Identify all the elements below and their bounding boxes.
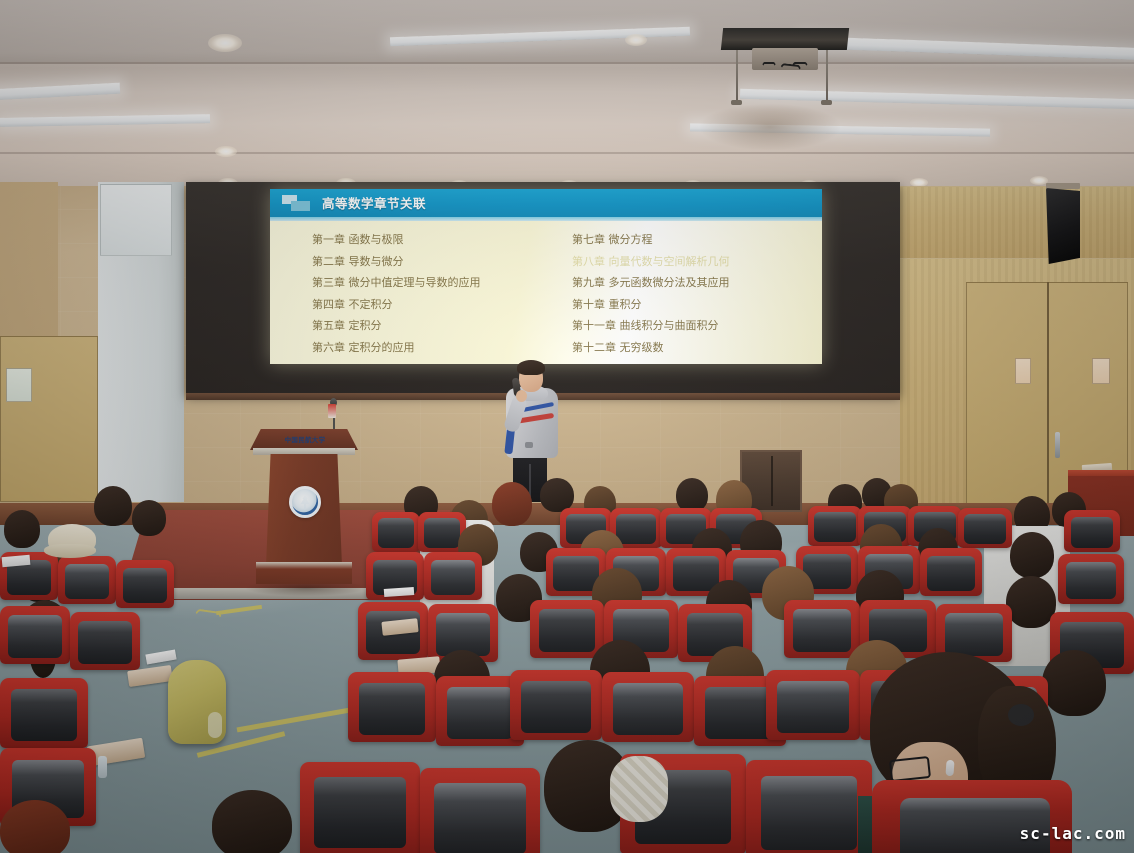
water-bottle xyxy=(98,756,107,778)
earbud xyxy=(945,760,954,777)
door-handle[interactable] xyxy=(1055,432,1060,458)
audience-head xyxy=(0,800,70,853)
podium-institution-text: 中国民航大学 xyxy=(272,434,338,444)
knitted-bag xyxy=(610,756,668,822)
seat xyxy=(920,548,982,596)
university-emblem xyxy=(289,486,321,518)
slide-title: 高等数学章节关联 xyxy=(322,193,426,212)
exit-door-left[interactable] xyxy=(0,336,98,502)
seat xyxy=(58,556,116,604)
door-window xyxy=(1015,358,1031,384)
audience-head xyxy=(132,500,166,536)
slide-item: 第二章 导数与微分 xyxy=(312,251,481,273)
seat xyxy=(420,768,540,853)
audience-head xyxy=(676,478,708,512)
slide-item: 第三章 微分中值定理与导数的应用 xyxy=(312,272,481,294)
seat xyxy=(116,560,174,608)
yellow-backpack xyxy=(168,660,226,744)
podium-base xyxy=(256,562,352,584)
seat xyxy=(0,606,70,664)
seat xyxy=(602,672,694,742)
slide-item-highlighted: 第八章 向量代数与空间解析几何 xyxy=(572,251,730,273)
seat xyxy=(0,678,88,748)
presentation-slide: 高等数学章节关联 第一章 函数与极限 第二章 导数与微分 第三章 微分中值定理与… xyxy=(270,189,822,364)
podium-mini-flag xyxy=(328,404,336,418)
seat xyxy=(1058,554,1124,604)
slide-item: 第四章 不定积分 xyxy=(312,294,481,316)
seat xyxy=(424,552,482,600)
slide-item: 第七章 微分方程 xyxy=(572,229,730,251)
audience-cap-brim xyxy=(44,544,96,558)
projector-mount-plate xyxy=(721,28,849,50)
ceiling-downlight xyxy=(625,34,647,46)
lecture-hall-photo: 高等数学章节关联 第一章 函数与极限 第二章 导数与微分 第三章 微分中值定理与… xyxy=(0,0,1134,853)
seat xyxy=(746,760,872,853)
ceiling-panel-light xyxy=(0,114,210,127)
audience-head xyxy=(212,790,292,853)
seat xyxy=(766,670,860,740)
slide-item: 第十二章 无穷级数 xyxy=(572,337,730,359)
left-wall-plate xyxy=(100,184,172,256)
slide-item: 第五章 定积分 xyxy=(312,315,481,337)
presenter-hand xyxy=(516,390,527,402)
slide-item: 第九章 多元函数微分法及其应用 xyxy=(572,272,730,294)
slide-body: 第一章 函数与极限 第二章 导数与微分 第三章 微分中值定理与导数的应用 第四章… xyxy=(270,219,822,364)
door-window xyxy=(1092,358,1110,384)
audience-head xyxy=(1006,576,1056,628)
seat xyxy=(784,600,860,658)
seat xyxy=(958,508,1012,548)
seat xyxy=(70,612,140,670)
audience-head xyxy=(94,486,132,526)
podium-lip xyxy=(253,448,355,455)
door-window xyxy=(6,368,32,402)
slide-item: 第十章 重积分 xyxy=(572,294,730,316)
slide-logo-icon xyxy=(282,195,312,212)
slide-item: 第六章 定积分的应用 xyxy=(312,337,481,359)
seat xyxy=(372,512,420,552)
slide-left-column: 第一章 函数与极限 第二章 导数与微分 第三章 微分中值定理与导数的应用 第四章… xyxy=(312,229,481,358)
hair-scrunchie xyxy=(1008,704,1034,726)
ceiling-downlight xyxy=(208,34,242,52)
exit-door-right-left-leaf[interactable] xyxy=(966,282,1048,504)
seat xyxy=(808,506,862,546)
audience-head xyxy=(540,478,574,512)
wall-speaker xyxy=(1046,188,1080,264)
seat xyxy=(1064,510,1120,552)
slide-item: 第一章 函数与极限 xyxy=(312,229,481,251)
watermark: sc-lac.com xyxy=(1020,824,1126,843)
seat xyxy=(530,600,604,658)
slide-right-column: 第七章 微分方程 第八章 向量代数与空间解析几何 第九章 多元函数微分法及其应用… xyxy=(572,229,730,358)
ceiling xyxy=(0,0,1134,200)
slide-item: 第十一章 曲线积分与曲面积分 xyxy=(572,315,730,337)
ceiling-panel-light xyxy=(0,83,120,101)
slide-header: 高等数学章节关联 xyxy=(270,189,822,217)
seat xyxy=(300,762,420,853)
audience-head xyxy=(1010,532,1054,578)
ceiling-downlight xyxy=(215,146,237,157)
right-wall-wood-panel xyxy=(900,186,1134,258)
audience-head xyxy=(4,510,40,548)
seat xyxy=(510,670,602,740)
eyeglasses xyxy=(889,756,931,782)
seat xyxy=(348,672,436,742)
audience-head xyxy=(492,482,532,526)
